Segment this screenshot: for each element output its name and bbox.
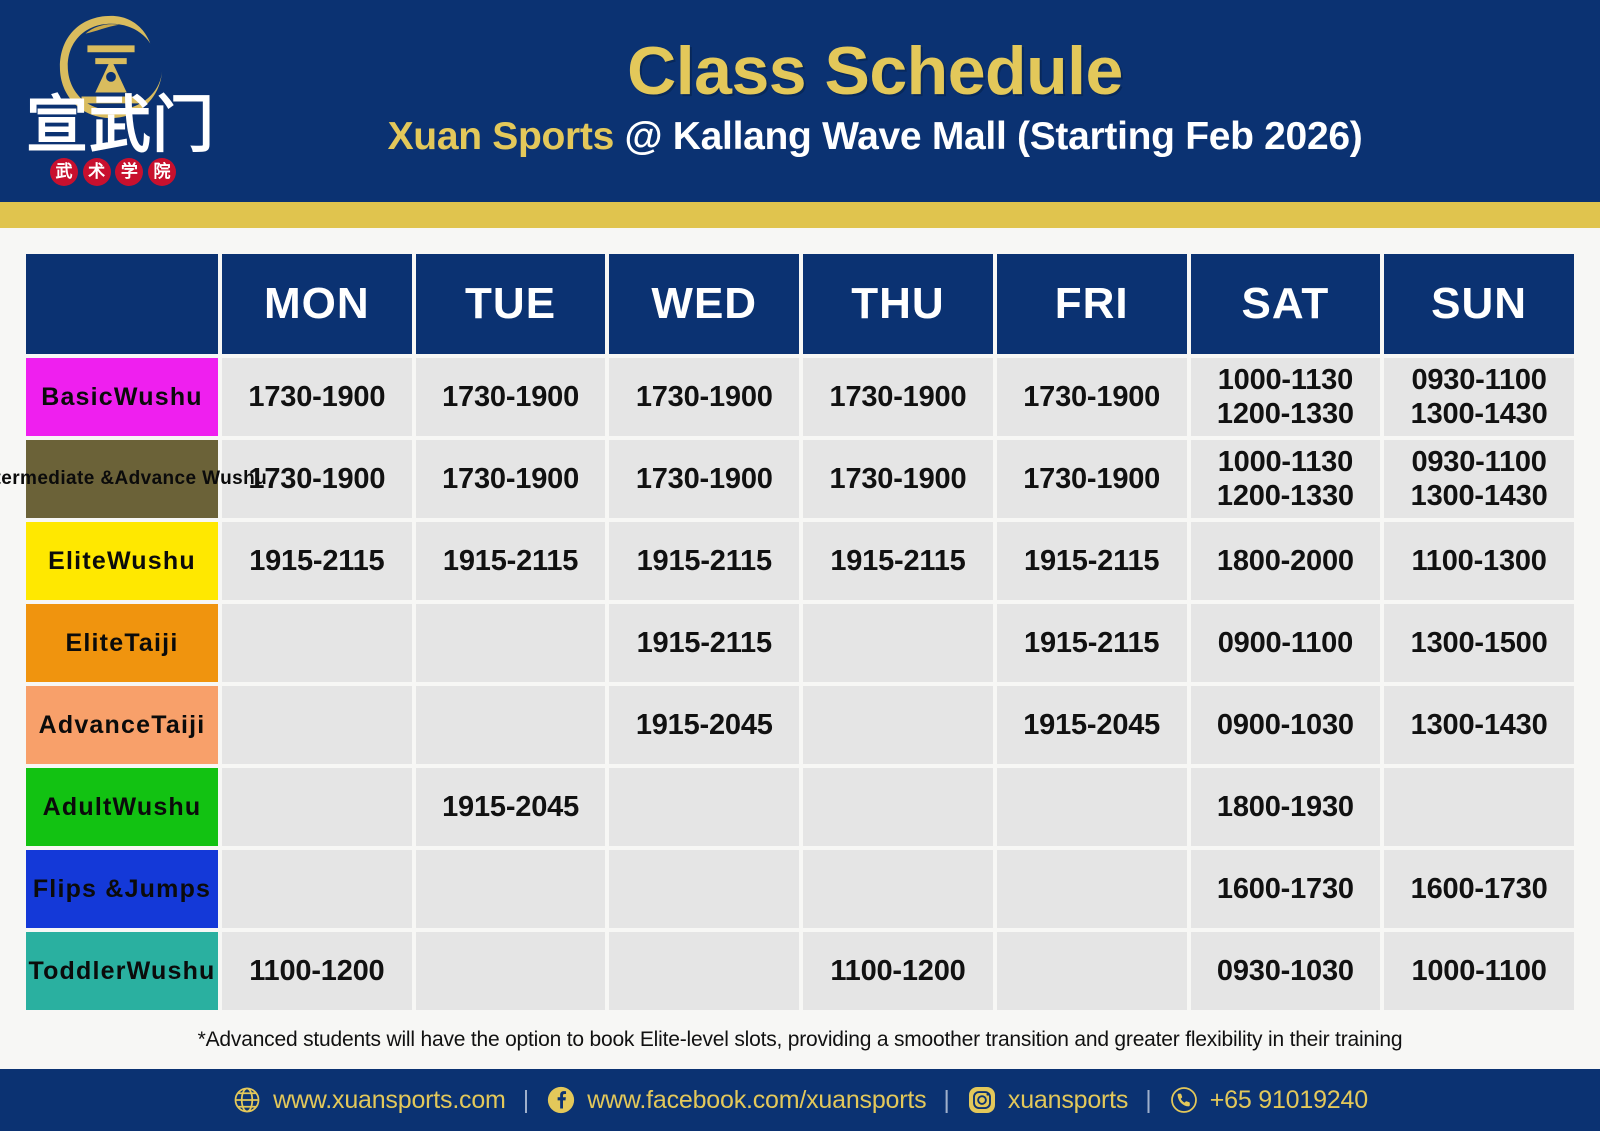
- contact-footer: www.xuansports.com|www.facebook.com/xuan…: [0, 1069, 1600, 1131]
- class-label-line: Wushu: [114, 384, 203, 411]
- time-slot: 1300-1500: [1384, 626, 1574, 660]
- instagram-icon: [967, 1085, 997, 1115]
- class-label: AdvanceTaiji: [26, 686, 218, 764]
- time-slot: 1000-1130: [1191, 363, 1381, 397]
- time-slot-cell: 1915-2115: [997, 604, 1187, 682]
- header-text-block: Class Schedule Xuan Sports @ Kallang Wav…: [210, 36, 1600, 160]
- time-slot-cell: [416, 932, 606, 1010]
- logo-chinese-name: 宣武门: [26, 94, 204, 156]
- time-slot-cell: [609, 850, 799, 928]
- time-slot-cell: 0900-1100: [1191, 604, 1381, 682]
- class-label-line: Wushu: [127, 958, 216, 985]
- time-slot: 1915-2045: [416, 790, 606, 824]
- table-row: Flips &Jumps1600-17301600-1730: [26, 850, 1574, 928]
- page-subtitle: Xuan Sports @ Kallang Wave Mall (Startin…: [210, 115, 1540, 160]
- time-slot: 0930-1030: [1191, 954, 1381, 988]
- time-slot-cell: 1915-2045: [416, 768, 606, 846]
- xuan-sports-logo: 宣武门 武 术 学 院: [20, 6, 210, 196]
- time-slot-cell: [222, 604, 412, 682]
- time-slot-cell: 0930-11001300-1430: [1384, 358, 1574, 436]
- time-slot-cell: 1730-1900: [609, 440, 799, 518]
- class-label-line: Toddler: [28, 958, 126, 985]
- time-slot-cell: 1600-1730: [1191, 850, 1381, 928]
- class-label: EliteWushu: [26, 522, 218, 600]
- time-slot: 1730-1900: [997, 462, 1187, 496]
- class-label-line: Elite: [48, 548, 107, 575]
- time-slot-cell: [416, 604, 606, 682]
- time-slot-cell: 1000-1100: [1384, 932, 1574, 1010]
- contact-item[interactable]: www.xuansports.com: [232, 1085, 506, 1115]
- time-slot-cell: [416, 850, 606, 928]
- class-label: BasicWushu: [26, 358, 218, 436]
- time-slot-cell: 1915-2115: [222, 522, 412, 600]
- time-slot: 1000-1130: [1191, 445, 1381, 479]
- time-slot: 0900-1030: [1191, 708, 1381, 742]
- time-slot-cell: 1730-1900: [997, 358, 1187, 436]
- time-slot: 1100-1300: [1384, 544, 1574, 578]
- table-row: EliteWushu1915-21151915-21151915-2115191…: [26, 522, 1574, 600]
- time-slot-cell: 1000-11301200-1330: [1191, 358, 1381, 436]
- logo-badge: 院: [148, 158, 176, 186]
- contact-text: www.facebook.com/xuansports: [587, 1086, 926, 1115]
- time-slot: 1730-1900: [997, 380, 1187, 414]
- time-slot: 0900-1100: [1191, 626, 1381, 660]
- class-label: Flips &Jumps: [26, 850, 218, 928]
- table-row: Intermediate &Advance Wushu1730-19001730…: [26, 440, 1574, 518]
- time-slot-cell: 1600-1730: [1384, 850, 1574, 928]
- class-label-line: Advance: [39, 712, 152, 739]
- class-label: EliteTaiji: [26, 604, 218, 682]
- time-slot: 1730-1900: [803, 462, 993, 496]
- time-slot-cell: 1000-11301200-1330: [1191, 440, 1381, 518]
- header-row: MON TUE WED THU FRI SAT SUN: [26, 254, 1574, 354]
- class-label-cell: EliteTaiji: [26, 604, 218, 682]
- logo-badge: 武: [50, 158, 78, 186]
- contact-text: www.xuansports.com: [273, 1086, 506, 1115]
- class-label-line: Taiji: [124, 630, 178, 657]
- class-label-line: Intermediate &: [0, 469, 114, 490]
- time-slot-cell: 1730-1900: [803, 440, 993, 518]
- class-label-line: Taiji: [151, 712, 205, 739]
- gold-divider-bar: [0, 202, 1600, 228]
- time-slot: 1915-2115: [416, 544, 606, 578]
- time-slot: 1600-1730: [1384, 872, 1574, 906]
- time-slot-cell: [416, 686, 606, 764]
- time-slot: 1730-1900: [803, 380, 993, 414]
- time-slot-cell: [222, 850, 412, 928]
- class-label-cell: EliteWushu: [26, 522, 218, 600]
- table-row: EliteTaiji1915-21151915-21150900-1100130…: [26, 604, 1574, 682]
- schedule-table: MON TUE WED THU FRI SAT SUN BasicWushu17…: [22, 250, 1578, 1014]
- day-header-wed: WED: [609, 254, 799, 354]
- logo-badge: 学: [115, 158, 143, 186]
- time-slot: 1915-2115: [997, 626, 1187, 660]
- brand-name: Xuan Sports: [388, 115, 614, 158]
- subtitle-location: @ Kallang Wave Mall (Starting Feb 2026): [614, 115, 1362, 158]
- time-slot: 1100-1200: [803, 954, 993, 988]
- class-label: AdultWushu: [26, 768, 218, 846]
- contact-separator: |: [523, 1086, 530, 1115]
- time-slot-cell: 1915-2045: [997, 686, 1187, 764]
- time-slot-cell: [222, 686, 412, 764]
- contact-item[interactable]: xuansports: [967, 1085, 1128, 1115]
- class-label: ToddlerWushu: [26, 932, 218, 1010]
- time-slot-cell: [803, 686, 993, 764]
- time-slot-cell: [997, 768, 1187, 846]
- time-slot-cell: [222, 768, 412, 846]
- time-slot-cell: 1915-2115: [803, 522, 993, 600]
- time-slot-cell: [997, 932, 1187, 1010]
- time-slot-cell: 0900-1030: [1191, 686, 1381, 764]
- time-slot: 1730-1900: [222, 380, 412, 414]
- contact-separator: |: [1145, 1086, 1152, 1115]
- class-schedule-poster: 宣武门 武 术 学 院 Class Schedule Xuan Sports @…: [0, 0, 1600, 1131]
- corner-cell: [26, 254, 218, 354]
- class-label: Intermediate &Advance Wushu: [26, 440, 218, 518]
- time-slot: 1915-2115: [222, 544, 412, 578]
- time-slot: 1730-1900: [416, 380, 606, 414]
- time-slot-cell: 1800-2000: [1191, 522, 1381, 600]
- table-row: ToddlerWushu1100-12001100-12000930-10301…: [26, 932, 1574, 1010]
- day-header-sat: SAT: [1191, 254, 1381, 354]
- time-slot: 1100-1200: [222, 954, 412, 988]
- schedule-table-body: BasicWushu1730-19001730-19001730-1900173…: [26, 358, 1574, 1010]
- time-slot: 1730-1900: [416, 462, 606, 496]
- time-slot: 1300-1430: [1384, 397, 1574, 431]
- time-slot-cell: [803, 604, 993, 682]
- time-slot: 1915-2115: [609, 544, 799, 578]
- class-label-line: Wushu: [113, 794, 202, 821]
- globe-icon: [232, 1085, 262, 1115]
- time-slot-cell: 1100-1200: [803, 932, 993, 1010]
- time-slot-cell: 1730-1900: [222, 440, 412, 518]
- time-slot-cell: 1915-2115: [609, 604, 799, 682]
- class-label-cell: AdvanceTaiji: [26, 686, 218, 764]
- table-row: BasicWushu1730-19001730-19001730-1900173…: [26, 358, 1574, 436]
- time-slot: 1915-2045: [997, 708, 1187, 742]
- time-slot: 1200-1330: [1191, 397, 1381, 431]
- class-label-cell: Flips &Jumps: [26, 850, 218, 928]
- table-row: AdvanceTaiji1915-20451915-20450900-10301…: [26, 686, 1574, 764]
- class-label-cell: AdultWushu: [26, 768, 218, 846]
- page-title: Class Schedule: [210, 36, 1540, 107]
- contact-separator: |: [943, 1086, 950, 1115]
- class-label-cell: BasicWushu: [26, 358, 218, 436]
- time-slot-cell: 1800-1930: [1191, 768, 1381, 846]
- phone-icon: [1169, 1085, 1199, 1115]
- time-slot: 1730-1900: [222, 462, 412, 496]
- logo-badge-row: 武 术 学 院: [50, 158, 176, 186]
- time-slot-cell: 1300-1500: [1384, 604, 1574, 682]
- day-header-sun: SUN: [1384, 254, 1574, 354]
- time-slot: 1915-2115: [609, 626, 799, 660]
- contact-text: xuansports: [1008, 1086, 1128, 1115]
- class-label-cell: Intermediate &Advance Wushu: [26, 440, 218, 518]
- contact-item[interactable]: www.facebook.com/xuansports: [546, 1085, 926, 1115]
- time-slot-cell: 1730-1900: [609, 358, 799, 436]
- time-slot-cell: 1730-1900: [803, 358, 993, 436]
- time-slot-cell: 1730-1900: [416, 440, 606, 518]
- time-slot-cell: [803, 850, 993, 928]
- poster-header: 宣武门 武 术 学 院 Class Schedule Xuan Sports @…: [0, 0, 1600, 202]
- time-slot: 1730-1900: [609, 380, 799, 414]
- table-row: AdultWushu1915-20451800-1930: [26, 768, 1574, 846]
- time-slot: 1600-1730: [1191, 872, 1381, 906]
- time-slot: 1300-1430: [1384, 708, 1574, 742]
- schedule-footnote: *Advanced students will have the option …: [22, 1014, 1578, 1052]
- time-slot: 1800-1930: [1191, 790, 1381, 824]
- time-slot: 1800-2000: [1191, 544, 1381, 578]
- schedule-table-head: MON TUE WED THU FRI SAT SUN: [26, 254, 1574, 354]
- time-slot-cell: 1300-1430: [1384, 686, 1574, 764]
- class-label-line: Adult: [43, 794, 113, 821]
- day-header-thu: THU: [803, 254, 993, 354]
- time-slot-cell: 1730-1900: [222, 358, 412, 436]
- time-slot-cell: [803, 768, 993, 846]
- day-header-mon: MON: [222, 254, 412, 354]
- day-header-fri: FRI: [997, 254, 1187, 354]
- class-label-line: Jumps: [125, 876, 212, 903]
- time-slot-cell: 1730-1900: [416, 358, 606, 436]
- time-slot-cell: 0930-11001300-1430: [1384, 440, 1574, 518]
- class-label-cell: ToddlerWushu: [26, 932, 218, 1010]
- time-slot-cell: [609, 932, 799, 1010]
- time-slot-cell: [997, 850, 1187, 928]
- class-label-line: Basic: [41, 384, 114, 411]
- time-slot: 0930-1100: [1384, 363, 1574, 397]
- time-slot: 1915-2115: [803, 544, 993, 578]
- class-label-line: Wushu: [107, 548, 196, 575]
- time-slot: 1915-2115: [997, 544, 1187, 578]
- class-label-line: Elite: [66, 630, 125, 657]
- time-slot: 1730-1900: [609, 462, 799, 496]
- time-slot: 1300-1430: [1384, 479, 1574, 513]
- time-slot-cell: 1730-1900: [997, 440, 1187, 518]
- time-slot-cell: 1915-2115: [997, 522, 1187, 600]
- time-slot-cell: 0930-1030: [1191, 932, 1381, 1010]
- time-slot-cell: 1915-2045: [609, 686, 799, 764]
- time-slot-cell: 1915-2115: [416, 522, 606, 600]
- contact-item[interactable]: +65 91019240: [1169, 1085, 1368, 1115]
- time-slot-cell: [1384, 768, 1574, 846]
- class-label-line: Flips &: [33, 876, 125, 903]
- time-slot-cell: 1100-1300: [1384, 522, 1574, 600]
- contact-text: +65 91019240: [1210, 1086, 1368, 1115]
- time-slot-cell: 1915-2115: [609, 522, 799, 600]
- time-slot-cell: 1100-1200: [222, 932, 412, 1010]
- time-slot-cell: [609, 768, 799, 846]
- time-slot: 1915-2045: [609, 708, 799, 742]
- time-slot: 0930-1100: [1384, 445, 1574, 479]
- class-label-line: Advance Wushu: [114, 469, 267, 490]
- day-header-tue: TUE: [416, 254, 606, 354]
- time-slot: 1200-1330: [1191, 479, 1381, 513]
- time-slot: 1000-1100: [1384, 954, 1574, 988]
- facebook-icon: [546, 1085, 576, 1115]
- schedule-table-container: MON TUE WED THU FRI SAT SUN BasicWushu17…: [0, 228, 1600, 1069]
- logo-badge: 术: [83, 158, 111, 186]
